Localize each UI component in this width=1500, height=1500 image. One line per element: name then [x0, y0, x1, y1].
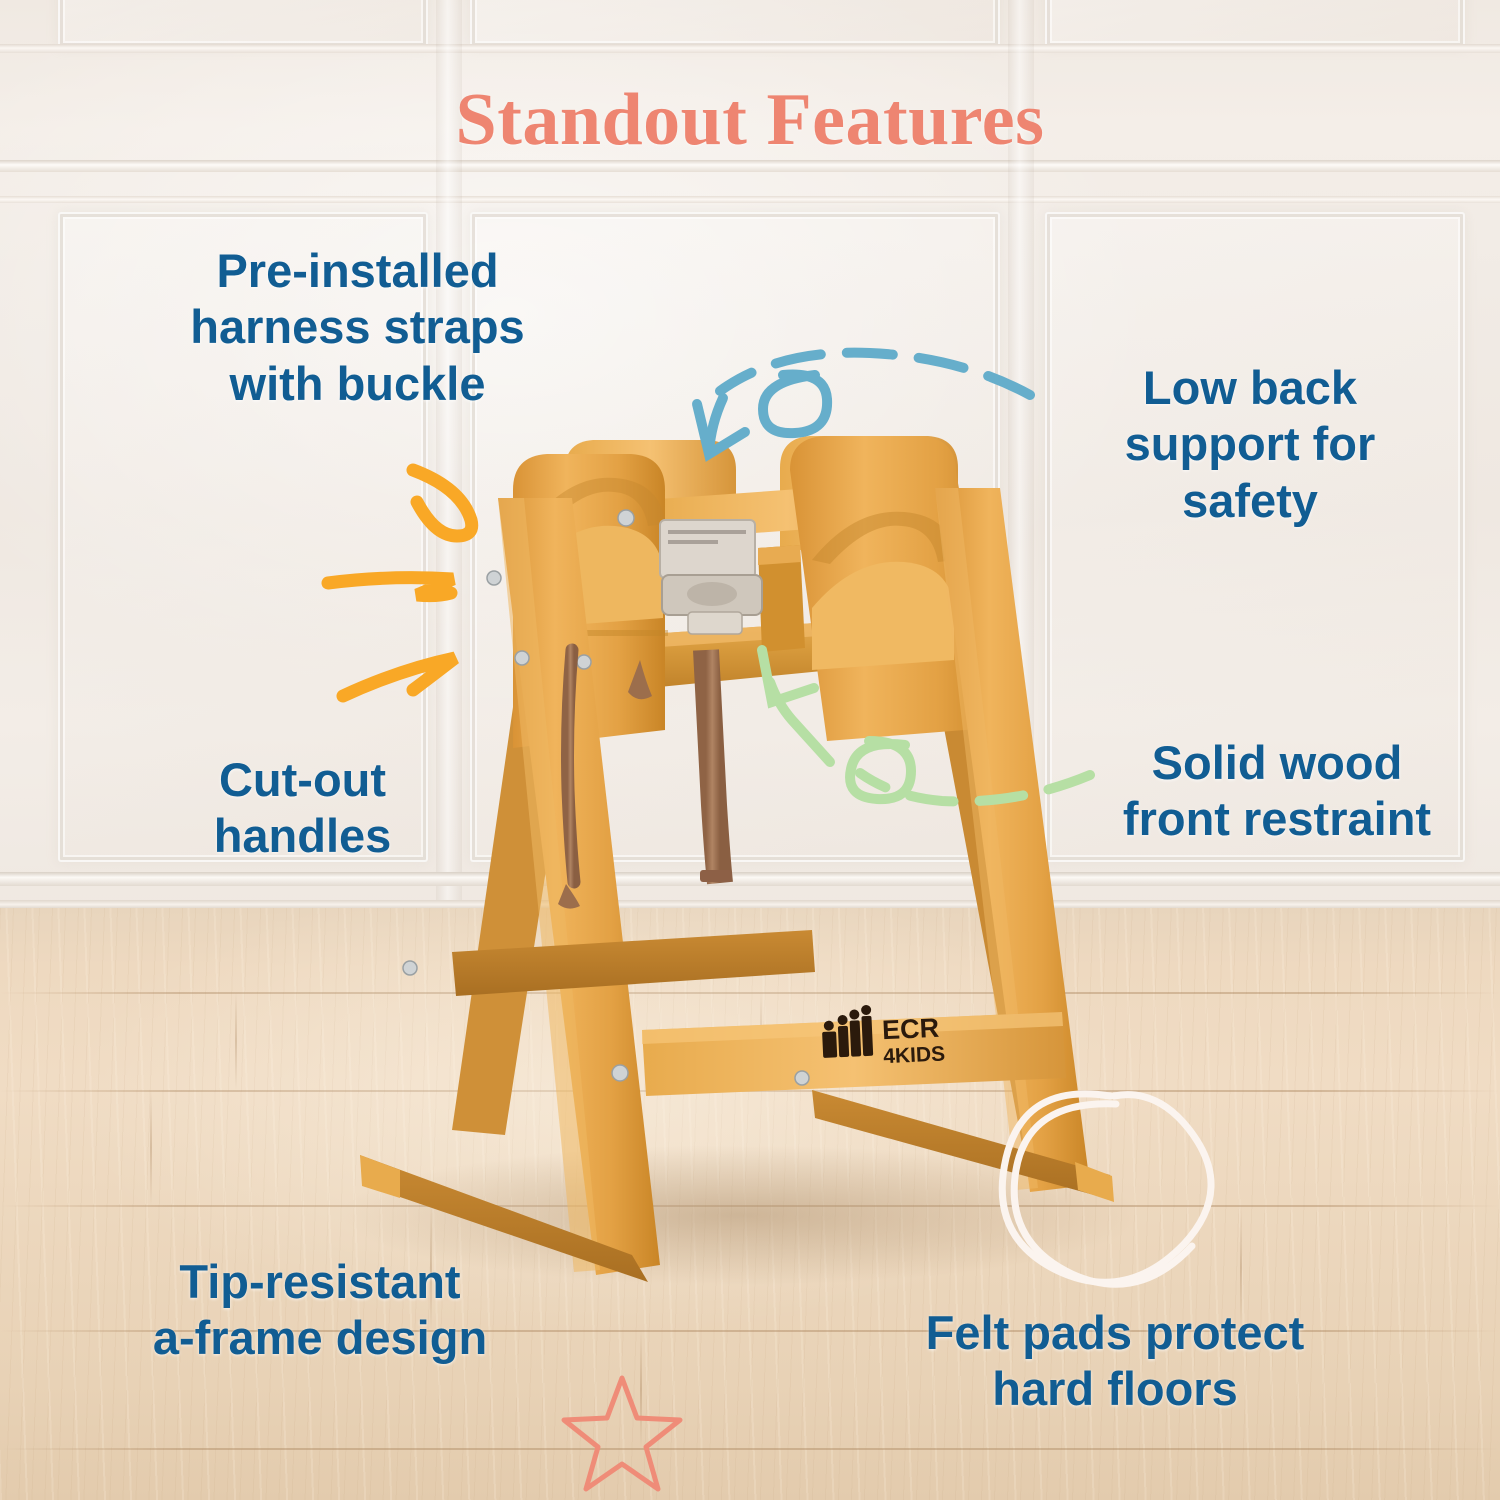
harness-tag-text-line	[668, 530, 746, 534]
harness-buckle-button	[687, 582, 737, 606]
chair-screw	[795, 1071, 809, 1085]
logo-text-ecr: ECR	[881, 1013, 939, 1046]
page-title: Standout Features	[0, 78, 1500, 163]
infographic-canvas: ECR 4KIDS Standout Features	[0, 0, 1500, 1500]
logo-bar	[850, 1020, 862, 1056]
chair-screw	[612, 1065, 628, 1081]
callout-felt-pads: Felt pads protect hard floors	[845, 1305, 1385, 1418]
chair-screw	[618, 510, 634, 526]
chair-screw	[577, 655, 591, 669]
harness-label-tag	[660, 520, 755, 578]
harness-strap-center-end	[700, 870, 732, 882]
callout-low-back-support: Low back support for safety	[1040, 360, 1460, 529]
harness-strap-center	[706, 650, 720, 883]
logo-bar	[861, 1016, 873, 1056]
chair-front-restraint-highlight	[758, 545, 801, 565]
logo-head	[849, 1009, 859, 1019]
chair-screw	[487, 571, 501, 585]
logo-text-4kids: 4KIDS	[883, 1042, 946, 1068]
logo-head	[861, 1005, 871, 1015]
harness-tag-text-line	[668, 540, 718, 544]
callout-tip-resistant-frame: Tip-resistant a-frame design	[95, 1254, 545, 1367]
logo-bar	[838, 1026, 849, 1057]
harness-buckle-latch	[688, 612, 742, 634]
chair-screw	[403, 961, 417, 975]
callout-harness-straps: Pre-installed harness straps with buckle	[130, 243, 585, 412]
callout-cut-out-handles: Cut-out handles	[115, 752, 490, 865]
logo-bar	[822, 1031, 837, 1058]
callout-solid-wood-restraint: Solid wood front restraint	[1072, 735, 1482, 848]
chair-screw	[515, 651, 529, 665]
harness-strap-left	[568, 650, 575, 882]
